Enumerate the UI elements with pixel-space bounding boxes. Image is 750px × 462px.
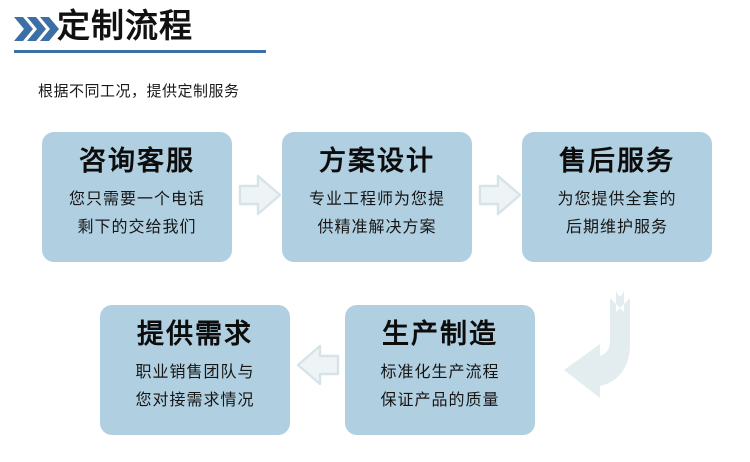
customization-process-infographic: 定制流程 根据不同工况，提供定制服务 咨询客服 您只需要一个电话 剩下的交给我们… (0, 0, 750, 462)
step-card-title: 售后服务 (559, 143, 675, 179)
step-card-description-line: 专业工程师为您提 (309, 185, 445, 213)
step-card-description-line: 为您提供全套的 (557, 185, 676, 213)
triple-chevron-right-icon (13, 14, 61, 44)
step-card-description-line: 标准化生产流程 (380, 358, 499, 386)
step-card-description: 标准化生产流程 保证产品的质量 (380, 358, 499, 414)
step-card-description: 职业销售团队与 您对接需求情况 (135, 358, 254, 414)
step-card-description-line: 您对接需求情况 (135, 386, 254, 414)
arrow-uturn-down-left-icon (556, 282, 664, 402)
step-card-description: 为您提供全套的 后期维护服务 (557, 185, 676, 241)
step-card-description-line: 职业销售团队与 (135, 358, 254, 386)
step-card-description-line: 供精准解决方案 (309, 213, 445, 241)
step-card-description-line: 后期维护服务 (557, 213, 676, 241)
step-card-title: 咨询客服 (79, 143, 195, 179)
step-card-description: 您只需要一个电话 剩下的交给我们 (69, 185, 205, 241)
page-title: 定制流程 (57, 6, 193, 46)
step-card-title: 提供需求 (137, 316, 253, 352)
step-card-after-sales-service[interactable]: 售后服务 为您提供全套的 后期维护服务 (522, 132, 712, 262)
step-card-description-line: 保证产品的质量 (380, 386, 499, 414)
step-card-title: 方案设计 (319, 143, 435, 179)
step-card-title: 生产制造 (382, 316, 498, 352)
step-card-solution-design[interactable]: 方案设计 专业工程师为您提 供精准解决方案 (282, 132, 472, 262)
header-underline-divider (14, 50, 266, 53)
step-card-consult-service[interactable]: 咨询客服 您只需要一个电话 剩下的交给我们 (42, 132, 232, 262)
page-subtitle: 根据不同工况，提供定制服务 (38, 80, 240, 101)
step-card-description-line: 您只需要一个电话 (69, 185, 205, 213)
step-card-description-line: 剩下的交给我们 (69, 213, 205, 241)
step-card-provide-requirements[interactable]: 提供需求 职业销售团队与 您对接需求情况 (100, 305, 290, 435)
step-card-description: 专业工程师为您提 供精准解决方案 (309, 185, 445, 241)
arrow-right-icon (478, 172, 522, 218)
arrow-left-icon (296, 342, 340, 388)
arrow-right-icon (238, 172, 282, 218)
page-header: 定制流程 (0, 0, 750, 60)
step-card-production-manufacturing[interactable]: 生产制造 标准化生产流程 保证产品的质量 (345, 305, 535, 435)
